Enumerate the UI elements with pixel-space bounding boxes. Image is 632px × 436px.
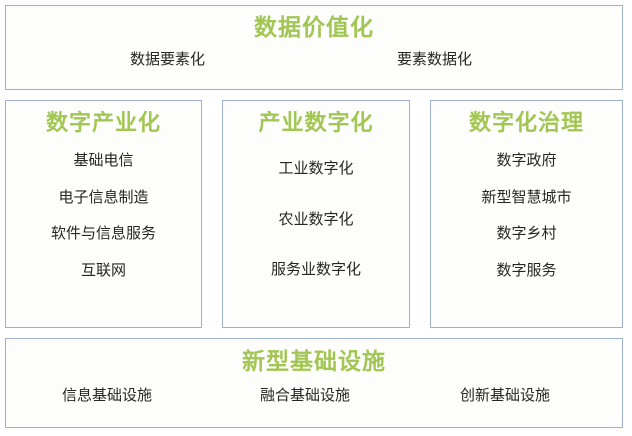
item-agricultural-digitalization: 农业数字化 bbox=[223, 212, 409, 229]
item-new-smart-city: 新型智慧城市 bbox=[431, 190, 622, 207]
panel-col-2-items: 工业数字化 农业数字化 服务业数字化 bbox=[223, 161, 409, 279]
digital-economy-framework-diagram: 数据价值化 数据要素化 要素数据化 数字产业化 基础电信 电子信息制造 软件与信… bbox=[0, 0, 632, 436]
item-data-factorization: 数据要素化 bbox=[130, 52, 205, 69]
item-service-digitalization: 服务业数字化 bbox=[223, 262, 409, 279]
item-digital-countryside: 数字乡村 bbox=[431, 226, 622, 243]
panel-title-digital-governance: 数字化治理 bbox=[431, 111, 622, 135]
item-innovation-infrastructure: 创新基础设施 bbox=[460, 388, 550, 405]
panel-title-digital-industrialization: 数字产业化 bbox=[6, 111, 201, 135]
panel-title-industry-digitalization: 产业数字化 bbox=[223, 111, 409, 135]
item-converged-infrastructure: 融合基础设施 bbox=[260, 388, 350, 405]
panel-data-valorization: 数据价值化 数据要素化 要素数据化 bbox=[5, 5, 623, 90]
panel-industry-digitalization: 产业数字化 工业数字化 农业数字化 服务业数字化 bbox=[222, 100, 410, 328]
panel-top-items-row: 数据要素化 要素数据化 bbox=[6, 52, 622, 74]
panel-title-new-infrastructure: 新型基础设施 bbox=[6, 349, 622, 374]
panel-col-1-items: 基础电信 电子信息制造 软件与信息服务 互联网 bbox=[6, 153, 201, 279]
item-information-infrastructure: 信息基础设施 bbox=[62, 388, 152, 405]
item-electronic-information-manufacturing: 电子信息制造 bbox=[6, 190, 201, 207]
panel-digital-industrialization: 数字产业化 基础电信 电子信息制造 软件与信息服务 互联网 bbox=[5, 100, 202, 328]
item-internet: 互联网 bbox=[6, 263, 201, 280]
panel-title-data-valorization: 数据价值化 bbox=[6, 15, 622, 40]
item-software-and-information-services: 软件与信息服务 bbox=[6, 226, 201, 243]
item-industrial-digitalization: 工业数字化 bbox=[223, 161, 409, 178]
panel-new-infrastructure: 新型基础设施 信息基础设施 融合基础设施 创新基础设施 bbox=[5, 338, 623, 428]
panel-col-3-items: 数字政府 新型智慧城市 数字乡村 数字服务 bbox=[431, 153, 622, 279]
item-factor-datafication: 要素数据化 bbox=[397, 52, 472, 69]
panel-bottom-items-row: 信息基础设施 融合基础设施 创新基础设施 bbox=[6, 388, 622, 410]
item-basic-telecom: 基础电信 bbox=[6, 153, 201, 170]
item-digital-services: 数字服务 bbox=[431, 263, 622, 280]
panel-digital-governance: 数字化治理 数字政府 新型智慧城市 数字乡村 数字服务 bbox=[430, 100, 623, 328]
item-digital-government: 数字政府 bbox=[431, 153, 622, 170]
